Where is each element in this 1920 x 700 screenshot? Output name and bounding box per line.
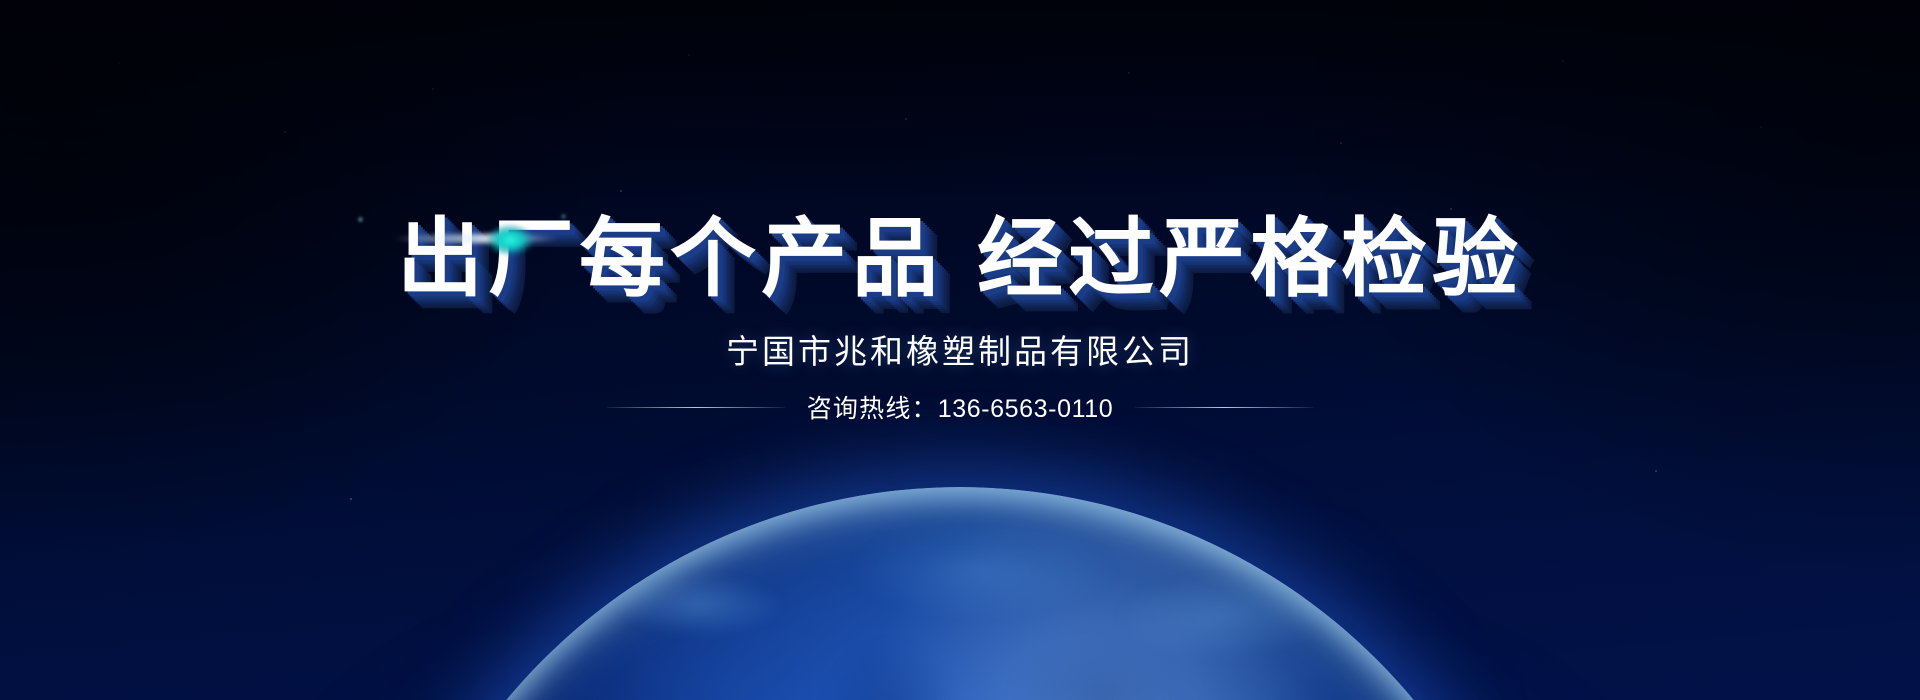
- headline-part-1: 出厂每个产品: [397, 211, 943, 307]
- hotline-label: 咨询热线：: [807, 395, 938, 423]
- divider-rule-left: [607, 407, 785, 408]
- headline-part-2: 经过严格检验: [977, 211, 1523, 307]
- hotline-row: 咨询热线：136-6563-0110: [0, 389, 1920, 425]
- company-name: 宁国市兆和橡塑制品有限公司: [0, 325, 1920, 373]
- divider-rule-right: [1135, 407, 1313, 408]
- banner-hero: 出厂每个产品经过严格检验 宁国市兆和橡塑制品有限公司 咨询热线：136-6563…: [0, 0, 1920, 700]
- hotline-text: 咨询热线：136-6563-0110: [807, 389, 1114, 425]
- headline: 出厂每个产品经过严格检验: [0, 216, 1920, 302]
- hotline-number[interactable]: 136-6563-0110: [938, 395, 1114, 423]
